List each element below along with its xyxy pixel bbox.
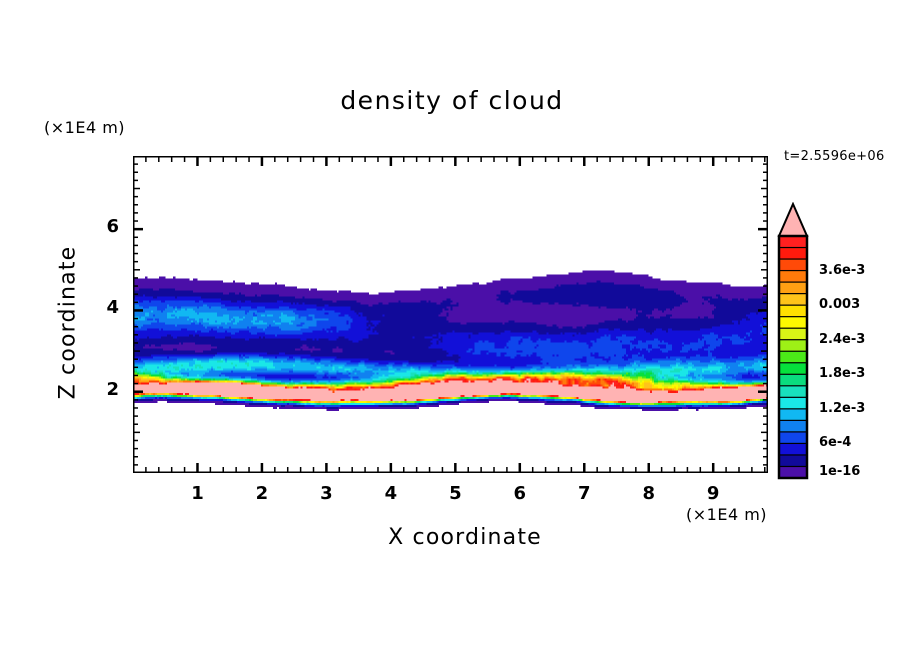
y-tick-label: 4: [87, 297, 119, 318]
x-tick-label: 9: [693, 483, 733, 504]
page-title: density of cloud: [0, 86, 904, 115]
x-tick-label: 3: [306, 483, 346, 504]
x-axis-title: X coordinate: [300, 525, 630, 550]
colorbar-tick-label: 1.2e-3: [819, 401, 865, 416]
x-tick-label: 8: [629, 483, 669, 504]
density-field: [133, 270, 768, 411]
time-annotation: t=2.5596e+06: [784, 149, 885, 164]
colorbar-tick-label: 3.6e-3: [819, 263, 865, 278]
y-tick-label: 2: [87, 379, 119, 400]
colorbar-tick-labels: 3.6e-30.0032.4e-31.8e-31.2e-36e-41e-16: [775, 202, 904, 484]
colorbar-tick-label: 1e-16: [819, 464, 860, 479]
colorbar-tick-label: 1.8e-3: [819, 366, 865, 381]
x-axis-units-label: (×1E4 m): [686, 505, 767, 524]
colorbar-tick-label: 6e-4: [819, 435, 851, 450]
x-tick-label: 1: [177, 483, 217, 504]
colorbar-tick-label: 0.003: [819, 297, 860, 312]
contour-plot-canvas: [133, 156, 768, 473]
x-tick-label: 5: [435, 483, 475, 504]
x-tick-label: 2: [242, 483, 282, 504]
y-axis-units-label: (×1E4 m): [44, 118, 125, 137]
x-tick-label: 6: [500, 483, 540, 504]
x-tick-label: 7: [564, 483, 604, 504]
colorbar-tick-label: 2.4e-3: [819, 332, 865, 347]
y-axis-title: Z coordinate: [56, 213, 81, 433]
y-tick-label: 6: [87, 216, 119, 237]
colorbar[interactable]: 3.6e-30.0032.4e-31.8e-31.2e-36e-41e-16: [775, 202, 904, 484]
x-tick-label: 4: [371, 483, 411, 504]
